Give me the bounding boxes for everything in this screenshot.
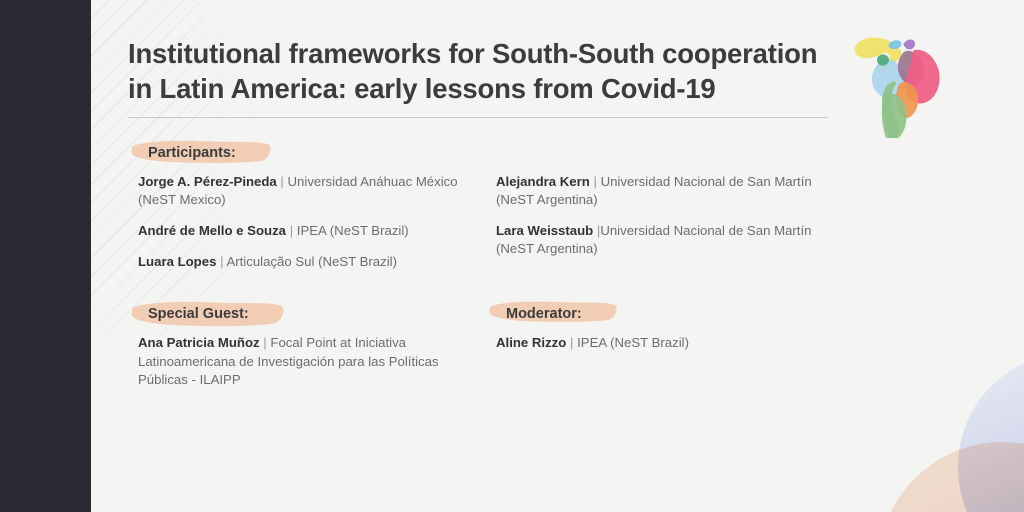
participant-name: André de Mello e Souza	[138, 223, 286, 238]
separator: |	[566, 335, 577, 350]
participant-name: Jorge A. Pérez-Pineda	[138, 174, 277, 189]
moderator-affiliation: IPEA (NeST Brazil)	[577, 335, 689, 350]
participant-name: Alejandra Kern	[496, 174, 590, 189]
moderator-entry: Aline Rizzo | IPEA (NeST Brazil)	[496, 334, 816, 352]
special-guest-heading-label: Special Guest:	[148, 306, 249, 322]
participant-affiliation: IPEA (NeST Brazil)	[297, 223, 409, 238]
participant-entry: Alejandra Kern | Universidad Nacional de…	[496, 173, 816, 209]
special-guest-entry: Ana Patricia Muñoz | Focal Point at Inic…	[138, 334, 458, 390]
title-line-1: Institutional frameworks for South-South…	[128, 37, 840, 72]
special-guest-column: Ana Patricia Muñoz | Focal Point at Inic…	[138, 334, 458, 403]
event-poster: Institutional frameworks for South-South…	[0, 0, 1024, 512]
moderator-heading-label: Moderator:	[506, 306, 582, 322]
title-divider	[128, 117, 828, 118]
participant-entry: André de Mello e Souza | IPEA (NeST Braz…	[138, 222, 458, 240]
moderator-heading: Moderator:	[492, 300, 604, 328]
participant-affiliation: Articulação Sul (NeST Brazil)	[226, 254, 397, 269]
participant-entry: Jorge A. Pérez-Pineda | Universidad Anáh…	[138, 173, 458, 209]
footer: NeST Network of Southern Think-Tanks Lat…	[0, 404, 1024, 484]
title-line-2: in Latin America: early lessons from Cov…	[128, 72, 840, 107]
separator: |	[590, 174, 601, 189]
participant-entry: Lara Weisstaub |Universidad Nacional de …	[496, 222, 816, 258]
participants-heading: Participants:	[134, 139, 258, 167]
participant-name: Lara Weisstaub	[496, 223, 593, 238]
participant-entry: Luara Lopes | Articulação Sul (NeST Braz…	[138, 253, 458, 271]
participants-heading-label: Participants:	[148, 145, 236, 161]
page-title: Institutional frameworks for South-South…	[128, 37, 840, 106]
moderator-name: Aline Rizzo	[496, 335, 566, 350]
participant-name: Luara Lopes	[138, 254, 216, 269]
moderator-column: Aline Rizzo | IPEA (NeST Brazil)	[496, 334, 816, 365]
participants-right-column: Alejandra Kern | Universidad Nacional de…	[496, 173, 816, 271]
separator: |	[260, 335, 271, 350]
separator: |	[286, 223, 297, 238]
special-guest-heading: Special Guest:	[134, 300, 271, 328]
separator: |	[277, 174, 288, 189]
special-guest-name: Ana Patricia Muñoz	[138, 335, 260, 350]
participants-left-column: Jorge A. Pérez-Pineda | Universidad Anáh…	[138, 173, 458, 284]
separator: |	[216, 254, 226, 269]
